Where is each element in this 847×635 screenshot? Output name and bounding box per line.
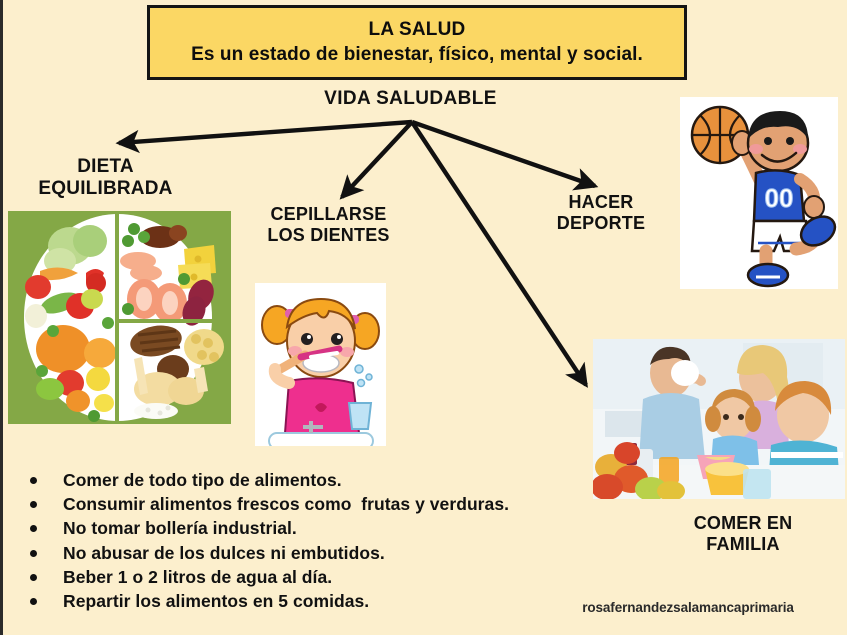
branch-label-cepillarse-line2: LOS DIENTES <box>241 225 416 246</box>
list-item: Consumir alimentos frescos como frutas y… <box>25 492 605 516</box>
healthy-eating-tips-list: Comer de todo tipo de alimentos. Consumi… <box>25 468 605 613</box>
branch-label-dieta-line2: EQUILIBRADA <box>13 178 198 200</box>
brushing-art <box>255 283 386 446</box>
family-breakfast-image <box>593 339 845 499</box>
list-item: Comer de todo tipo de alimentos. <box>25 468 605 492</box>
boy-with-basketball-image: 00 <box>680 97 838 289</box>
branch-label-cepillarse: CEPILLARSE LOS DIENTES <box>241 204 416 246</box>
list-item: Beber 1 o 2 litros de agua al día. <box>25 565 605 589</box>
title-box: LA SALUD Es un estado de bienestar, físi… <box>147 5 687 80</box>
bullet-list: Comer de todo tipo de alimentos. Consumi… <box>25 468 605 613</box>
arrow-to-cepillarse <box>342 122 412 197</box>
branch-label-deporte: HACER DEPORTE <box>531 192 671 234</box>
plate-divider-horizontal <box>115 319 215 323</box>
arrow-to-familia <box>412 122 586 385</box>
plate-food-art <box>8 211 231 424</box>
girl-brushing-teeth-image <box>255 283 386 446</box>
svg-text:00: 00 <box>765 183 794 213</box>
title-subheading: Es un estado de bienestar, físico, menta… <box>191 44 643 66</box>
branch-label-familia-line1: COMER EN <box>643 513 843 534</box>
arrow-to-deporte <box>412 122 595 186</box>
arrow-to-dieta <box>119 122 412 143</box>
branch-label-dieta: DIETA EQUILIBRADA <box>13 156 198 201</box>
author-credit: rosafernandezsalamancaprimaria <box>548 600 828 615</box>
hub-label-text: VIDA SALUDABLE <box>324 88 497 109</box>
branch-label-dieta-line1: DIETA <box>13 156 198 178</box>
healthy-plate-image <box>8 211 231 424</box>
family-art <box>593 339 845 499</box>
list-item: No tomar bollería industrial. <box>25 516 605 540</box>
branch-label-cepillarse-line1: CEPILLARSE <box>241 204 416 225</box>
branch-label-familia-line2: FAMILIA <box>643 534 843 555</box>
plate-divider-vertical <box>115 214 119 421</box>
list-item: Repartir los alimentos en 5 comidas. <box>25 589 605 613</box>
branch-label-deporte-line2: DEPORTE <box>531 213 671 234</box>
basketball-art: 00 <box>680 97 838 289</box>
list-item: No abusar de los dulces ni embutidos. <box>25 541 605 565</box>
infographic-slide: LA SALUD Es un estado de bienestar, físi… <box>0 0 847 635</box>
title-heading: LA SALUD <box>369 19 466 41</box>
branch-label-familia: COMER EN FAMILIA <box>643 513 843 555</box>
branch-label-deporte-line1: HACER <box>531 192 671 213</box>
